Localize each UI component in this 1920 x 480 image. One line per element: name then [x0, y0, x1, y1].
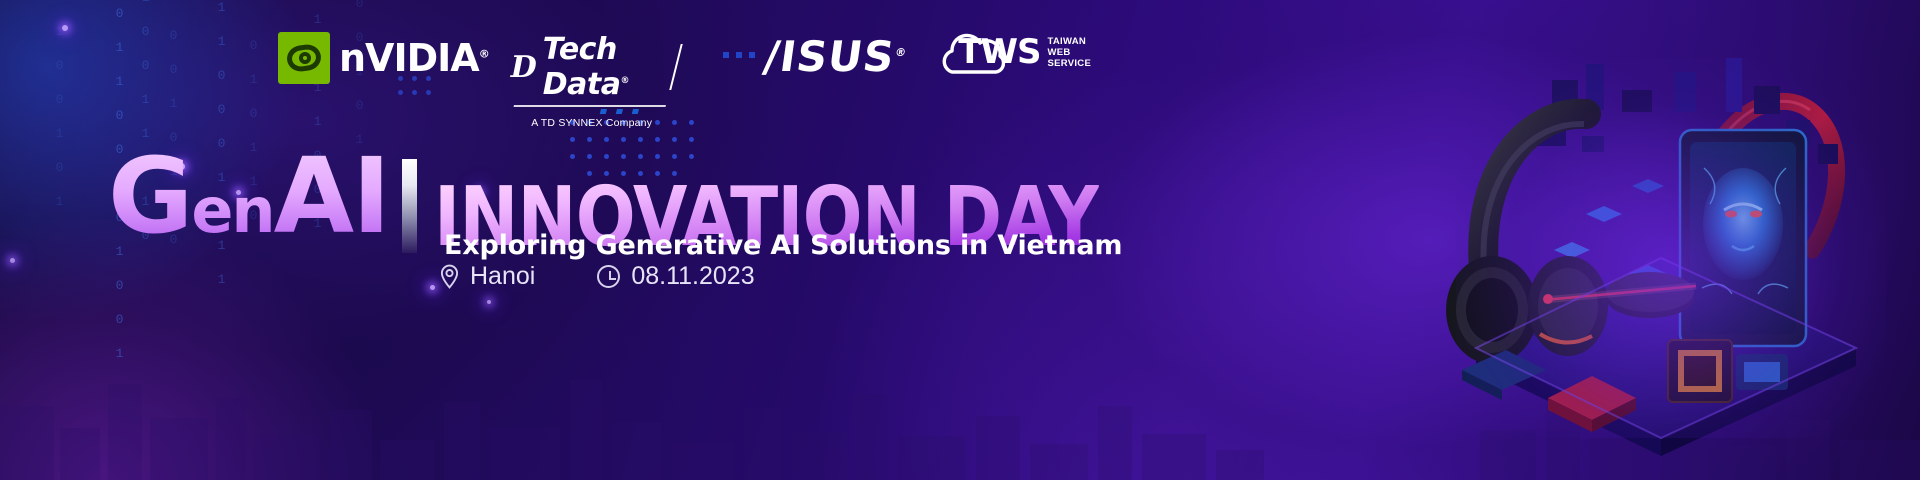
- logo-tech-data[interactable]: D Tech Data® A TD SYNNEX Company: [511, 32, 677, 131]
- event-meta: Hanoi 08.11.2023: [440, 262, 755, 291]
- nvidia-eye-icon: [278, 32, 330, 84]
- spark-dot: [487, 300, 491, 304]
- techdata-monogram: D: [511, 50, 537, 85]
- techdata-slash-icon: [669, 44, 683, 90]
- event-date: 08.11.2023: [597, 262, 754, 291]
- logo-tws[interactable]: TWS TAIWAN WEB SERVICE: [940, 32, 1091, 72]
- asus-dots-icon: [723, 52, 755, 62]
- spark-dot: [10, 258, 15, 263]
- logo-nvidia[interactable]: nVIDIA®: [278, 32, 489, 84]
- techdata-tagline: A TD SYNNEX Company: [507, 117, 677, 129]
- spark-dot: [62, 25, 68, 31]
- title-genai: GenAI: [108, 148, 389, 259]
- genai-3d-illustration: [1436, 18, 1906, 458]
- spark-dot: [430, 285, 435, 290]
- cloud-icon: [940, 32, 1004, 72]
- sponsor-logo-strip: nVIDIA® D Tech Data® A TD SYNNEX Company…: [0, 32, 1000, 102]
- banner-subtitle: Exploring Generative AI Solutions in Vie…: [444, 230, 1122, 261]
- logo-asus[interactable]: /ISUS®: [723, 32, 907, 81]
- genai-innovation-day-banner: 0 1 1 0 0 1 0 1 0 0 1 1 0 0 1 1 0 1 0 0 …: [0, 0, 1920, 480]
- nvidia-wordmark: nVIDIA®: [339, 36, 489, 80]
- clock-icon: [597, 265, 620, 288]
- asus-wordmark: /ISUS®: [760, 32, 909, 81]
- date-label: 08.11.2023: [631, 262, 754, 291]
- illustration-glow: [1456, 58, 1886, 438]
- title-divider: [402, 159, 417, 253]
- tws-sub-wordmark: TAIWAN WEB SERVICE: [1047, 36, 1091, 69]
- location-pin-icon: [440, 264, 459, 289]
- techdata-underline-icon: [512, 105, 666, 113]
- techdata-wordmark: Tech Data®: [543, 32, 668, 102]
- location-label: Hanoi: [470, 262, 535, 291]
- event-location: Hanoi: [440, 262, 535, 291]
